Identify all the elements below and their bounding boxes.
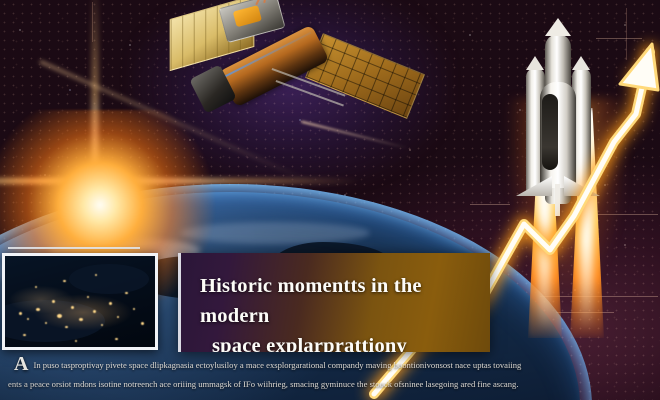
body-line-1: In puso tasproptivay pivete space dlipka…	[33, 360, 521, 370]
poster-canvas: Historic momentts in the modern space ex…	[0, 0, 660, 400]
drop-cap: A	[14, 356, 28, 373]
title-line-2: space explarprattiony	[200, 331, 480, 352]
body-line-2: ents a peace orsiot mdons isotine notree…	[8, 379, 518, 389]
earth-at-night-inset-photo	[2, 253, 158, 350]
title-line-1: Historic momentts in the modern	[200, 275, 422, 327]
title-panel: Historic momentts in the modern space ex…	[178, 253, 490, 352]
divider-line	[8, 247, 140, 249]
poster-title: Historic momentts in the modern space ex…	[200, 271, 480, 352]
body-paragraph: A In puso tasproptivay pivete space dlip…	[8, 356, 528, 396]
